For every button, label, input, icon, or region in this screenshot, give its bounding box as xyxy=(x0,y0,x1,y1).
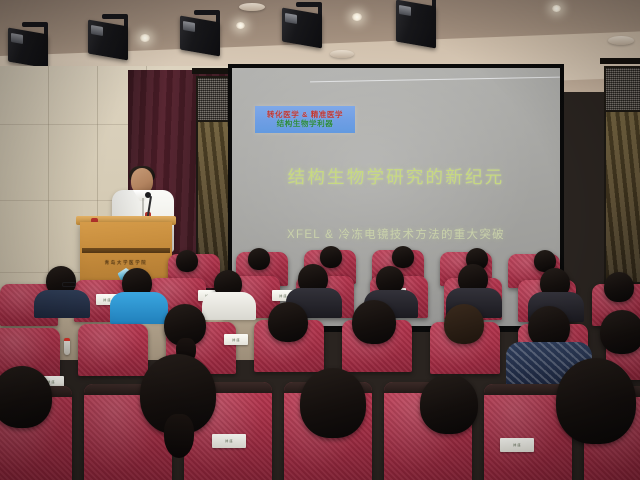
audience-shoulders xyxy=(110,292,168,324)
seat-number-plate: 排 座 xyxy=(212,434,246,448)
spotlight-lens xyxy=(399,5,411,16)
ceiling-vent xyxy=(239,3,265,11)
seat-number-text: 排 座 xyxy=(279,294,286,298)
slide-badge-line2: 结构生物学利器 xyxy=(277,119,334,128)
seat-number-text: 排 座 xyxy=(225,439,232,443)
microphone-icon xyxy=(145,192,151,198)
audience-head xyxy=(0,366,52,428)
audience-head xyxy=(268,302,308,342)
ceiling-downlight xyxy=(236,22,245,29)
lecture-hall-photo: 转化医学 & 精准医学 结构生物学利器 结构生物学研究的新纪元 XFEL & 冷… xyxy=(0,0,640,480)
audience-head xyxy=(604,272,634,302)
ceiling-downlight xyxy=(552,5,561,12)
slide-top-rule xyxy=(310,77,560,83)
spotlight-lens xyxy=(91,25,103,36)
ceiling-downlight xyxy=(352,13,362,21)
panel-header-bar-right xyxy=(600,58,640,64)
audience-head xyxy=(392,246,414,268)
acoustic-grille-right xyxy=(604,66,640,114)
audience-head xyxy=(420,374,478,434)
seat-number-text: 排 座 xyxy=(103,298,110,302)
ceiling-vent xyxy=(330,50,354,58)
spotlight-lens xyxy=(11,33,23,44)
water-bottle xyxy=(64,338,70,355)
slide-title: 结构生物学研究的新纪元 xyxy=(232,164,560,189)
seat-number-plate: 排 座 xyxy=(224,334,248,345)
audience-head xyxy=(248,248,270,270)
audience-head xyxy=(300,368,366,438)
audience-head xyxy=(556,358,636,444)
slide-subtitle: XFEL & 冷冻电镜技术方法的重大突破 xyxy=(232,226,560,242)
audience-head xyxy=(352,300,396,344)
seat-number-plate: 排 座 xyxy=(500,438,534,452)
audience-shoulders xyxy=(34,290,90,318)
audience-head xyxy=(600,310,640,354)
ceiling-vent xyxy=(608,36,634,45)
seat xyxy=(78,324,148,376)
ceiling-downlight xyxy=(140,34,150,42)
audience-ponytail xyxy=(164,414,194,458)
seat-number-text: 排 座 xyxy=(232,338,239,342)
seat-number-text: 排 座 xyxy=(513,443,520,447)
audience-head xyxy=(320,246,342,268)
spotlight-lens xyxy=(183,21,195,32)
audience-area: 排 座 排 座 排 座 排 座 xyxy=(0,246,640,480)
slide-badge-line1: 转化医学 & 精准医学 xyxy=(267,111,343,119)
audience-head xyxy=(176,250,198,272)
eyeglasses-icon xyxy=(62,282,76,287)
spotlight-lens xyxy=(285,13,297,24)
audience-head xyxy=(444,304,484,344)
audience-shoulders xyxy=(202,292,256,320)
slide-badge: 转化医学 & 精准医学 结构生物学利器 xyxy=(255,106,355,133)
